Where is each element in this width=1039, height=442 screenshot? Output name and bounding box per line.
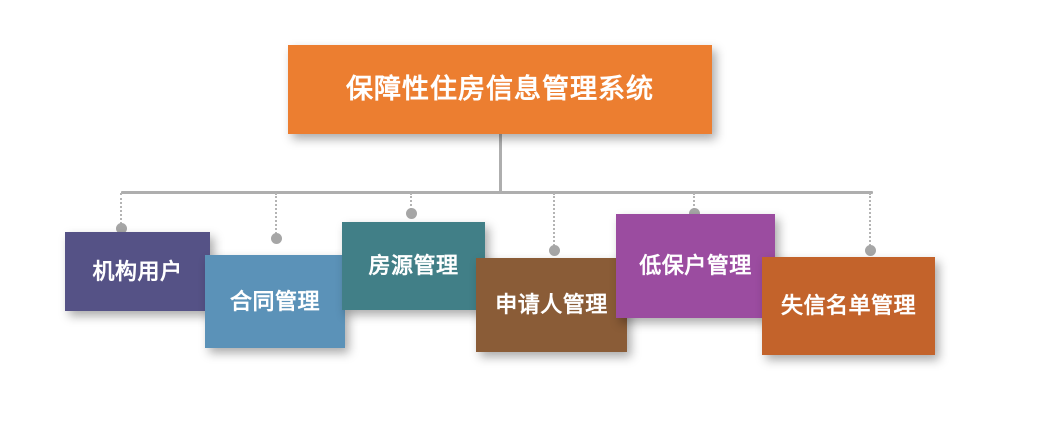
child-node-1[interactable]: 机构用户 [65, 232, 210, 311]
child-node-label: 房源管理 [368, 253, 458, 278]
child-node-label: 合同管理 [230, 289, 320, 314]
root-node-system-title[interactable]: 保障性住房信息管理系统 [288, 45, 712, 134]
child-node-6[interactable]: 失信名单管理 [762, 257, 935, 355]
connector-root-stem [499, 134, 502, 193]
connector-endpoint-dot [865, 245, 876, 256]
connector-dotted-line [553, 193, 555, 250]
connector-endpoint-dot [549, 245, 560, 256]
child-node-label: 失信名单管理 [781, 293, 916, 318]
root-node-label: 保障性住房信息管理系统 [346, 74, 654, 105]
connector-dotted-line [869, 193, 871, 250]
child-node-3[interactable]: 房源管理 [342, 222, 485, 310]
child-node-label: 低保户管理 [639, 253, 752, 278]
child-node-label: 机构用户 [92, 259, 182, 284]
connector-dotted-line [275, 193, 277, 238]
diagram-canvas: 保障性住房信息管理系统 机构用户合同管理房源管理申请人管理低保户管理失信名单管理 [0, 0, 1039, 442]
child-node-5[interactable]: 低保户管理 [616, 214, 775, 318]
connector-endpoint-dot [271, 233, 282, 244]
child-node-2[interactable]: 合同管理 [205, 255, 345, 348]
child-node-4[interactable]: 申请人管理 [476, 258, 627, 352]
connector-endpoint-dot [406, 208, 417, 219]
child-node-label: 申请人管理 [495, 292, 608, 317]
connector-horizontal-bar [121, 191, 873, 194]
